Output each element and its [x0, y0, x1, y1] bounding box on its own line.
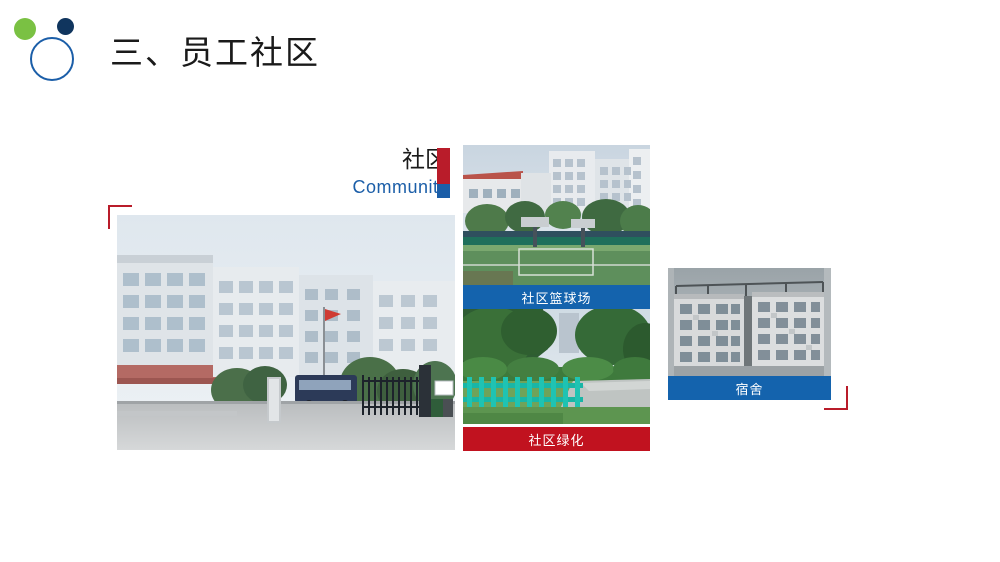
photo-community-entrance: [117, 215, 455, 450]
caption-basketball-court: 社区篮球场: [463, 285, 650, 309]
navy-dot-icon: [57, 18, 74, 35]
section-label-blue-bar: [437, 184, 450, 198]
section-label-cn: 社区: [300, 145, 448, 175]
logo-group: [14, 10, 94, 80]
section-label-en: Community: [300, 175, 448, 199]
photo-community-greening: [463, 309, 650, 424]
photo-dormitory: [668, 268, 831, 376]
page-title: 三、员工社区: [110, 26, 320, 74]
blue-ring-icon: [30, 37, 74, 81]
green-dot-icon: [14, 18, 36, 40]
section-label: 社区 Community: [300, 145, 448, 199]
photo-basketball-court: [463, 145, 650, 285]
caption-dormitory: 宿舍: [668, 376, 831, 400]
caption-community-greening: 社区绿化: [463, 427, 650, 451]
